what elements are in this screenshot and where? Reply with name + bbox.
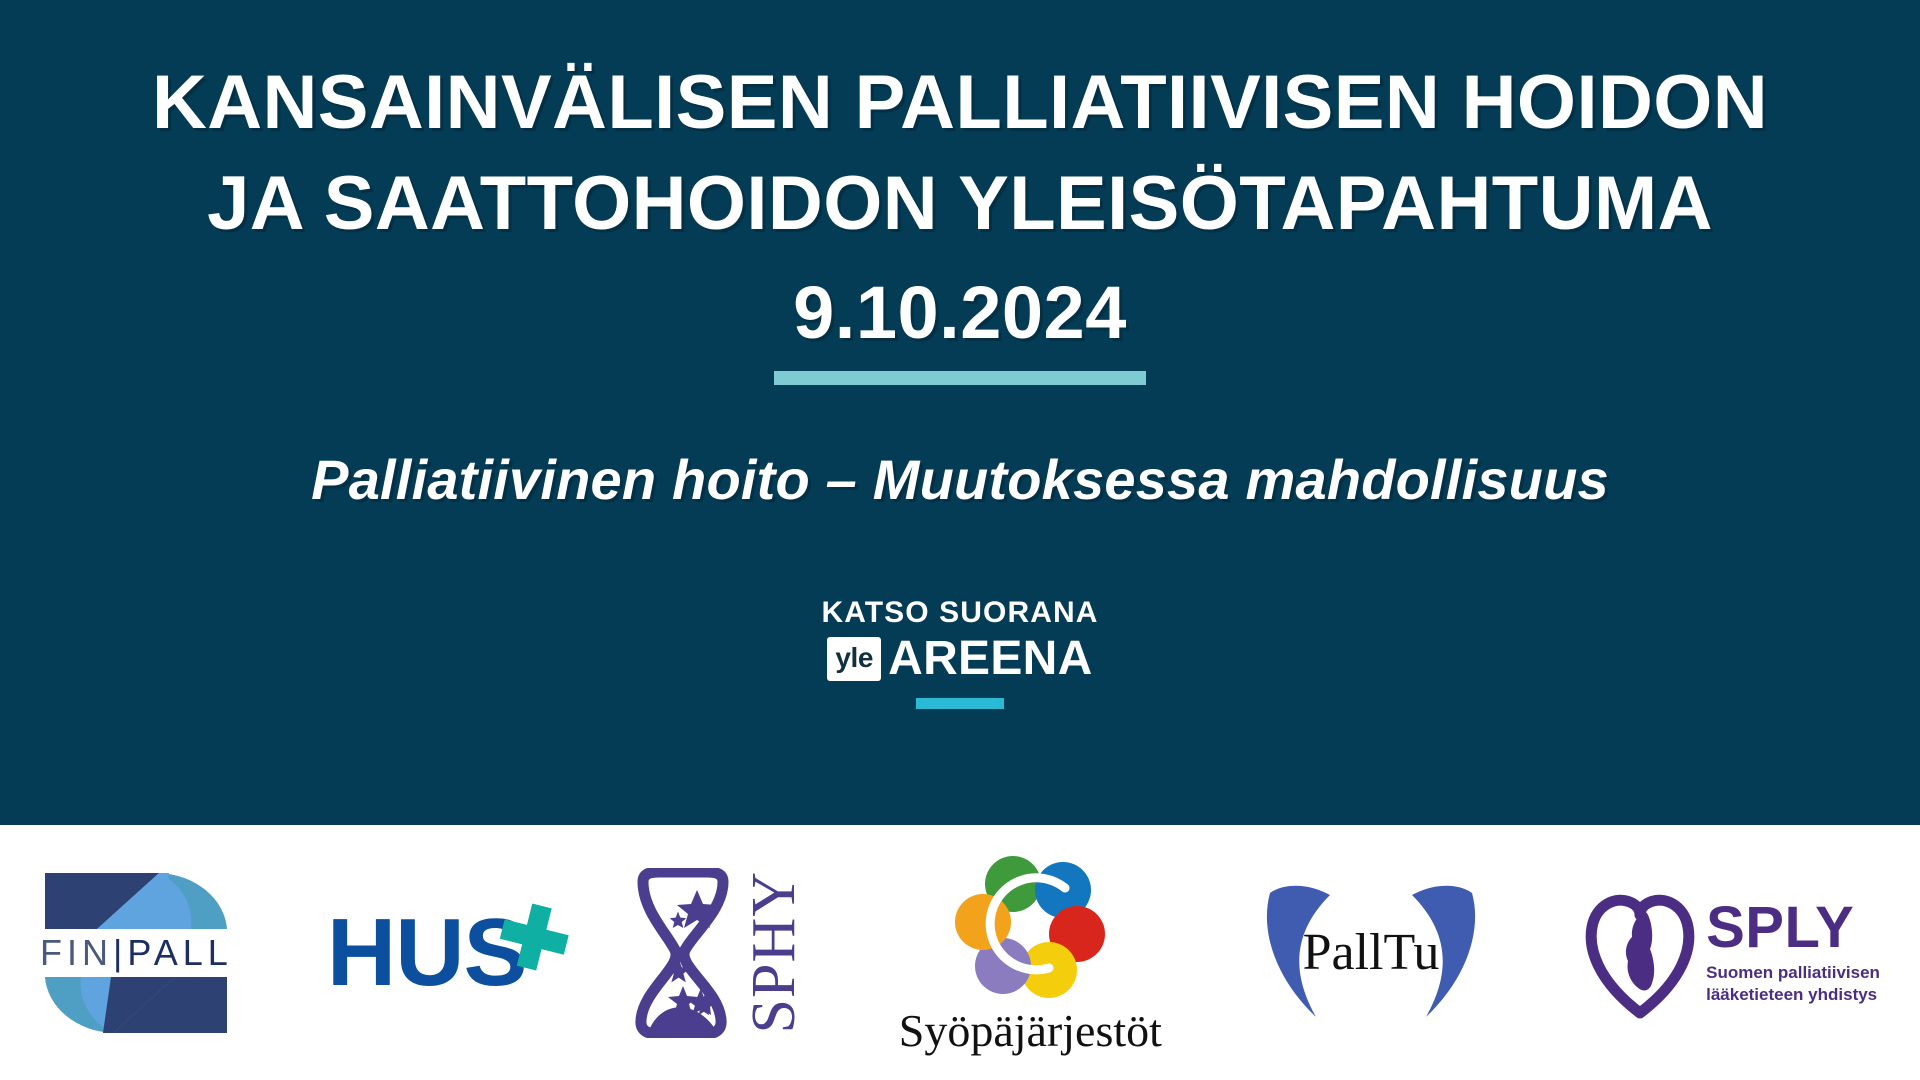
sply-heart-finland-icon xyxy=(1580,885,1700,1020)
sphy-wordmark: SPHY xyxy=(743,871,805,1034)
finpall-leaf-top-icon xyxy=(41,869,231,933)
logo-palltu[interactable]: PallTu xyxy=(1256,873,1486,1033)
hus-cross-icon xyxy=(495,899,573,977)
hero-section: KANSAINVÄLISEN PALLIATIIVISEN HOIDON JA … xyxy=(0,0,1920,825)
sply-wordmark: SPLY xyxy=(1706,899,1880,957)
sply-text-block: SPLY Suomen palliatiivisen lääketieteen … xyxy=(1706,899,1880,1006)
event-date: 9.10.2024 xyxy=(793,276,1127,350)
event-subtitle: Palliatiivinen hoito – Muutoksessa mahdo… xyxy=(311,447,1609,512)
logo-finpall[interactable]: FIN|PALL xyxy=(40,869,233,1037)
finpall-wordmark: FIN|PALL xyxy=(40,935,233,971)
headline-line-2: JA SAATTOHOIDON YLEISÖTAPAHTUMA xyxy=(100,153,1820,254)
areena-underline-rule xyxy=(916,698,1004,709)
event-date-block: 9.10.2024 xyxy=(774,276,1146,385)
date-underline-rule xyxy=(774,371,1146,385)
partner-logo-strip: FIN|PALL HUS xyxy=(0,825,1920,1080)
headline-line-1: KANSAINVÄLISEN PALLIATIIVISEN HOIDON xyxy=(100,52,1820,153)
event-poster: KANSAINVÄLISEN PALLIATIIVISEN HOIDON JA … xyxy=(0,0,1920,1080)
sply-subtitle-line-2: lääketieteen yhdistys xyxy=(1706,984,1880,1006)
logo-sphy[interactable]: SPHY xyxy=(621,868,805,1038)
watch-live-label: KATSO SUORANA xyxy=(821,598,1098,628)
finpall-word-pall: PALL xyxy=(127,932,232,973)
logo-syopajarjestot[interactable]: Syöpäjärjestöt xyxy=(899,852,1162,1054)
page-title: KANSAINVÄLISEN PALLIATIIVISEN HOIDON JA … xyxy=(100,52,1820,254)
areena-wordmark: AREENA xyxy=(888,635,1093,683)
broadcast-block[interactable]: KATSO SUORANA yle AREENA xyxy=(821,598,1098,709)
finpall-word-fin: FIN xyxy=(40,932,113,973)
syopajarjestot-flower-icon xyxy=(953,852,1108,1002)
logo-sply[interactable]: SPLY Suomen palliatiivisen lääketieteen … xyxy=(1580,885,1880,1020)
sply-subtitle: Suomen palliatiivisen lääketieteen yhdis… xyxy=(1706,962,1880,1006)
sply-subtitle-line-1: Suomen palliatiivisen xyxy=(1706,962,1880,984)
yle-badge-icon: yle xyxy=(827,637,881,681)
syopajarjestot-wordmark: Syöpäjärjestöt xyxy=(899,1008,1162,1054)
yle-areena-logo[interactable]: yle AREENA xyxy=(827,635,1092,683)
finpall-leaf-bottom-icon xyxy=(41,973,231,1037)
logo-hus[interactable]: HUS xyxy=(327,905,527,1001)
finpall-word-divider: | xyxy=(113,932,127,973)
palltu-wordmark: PallTu xyxy=(1303,927,1440,979)
sphy-hourglass-icon xyxy=(621,868,741,1038)
